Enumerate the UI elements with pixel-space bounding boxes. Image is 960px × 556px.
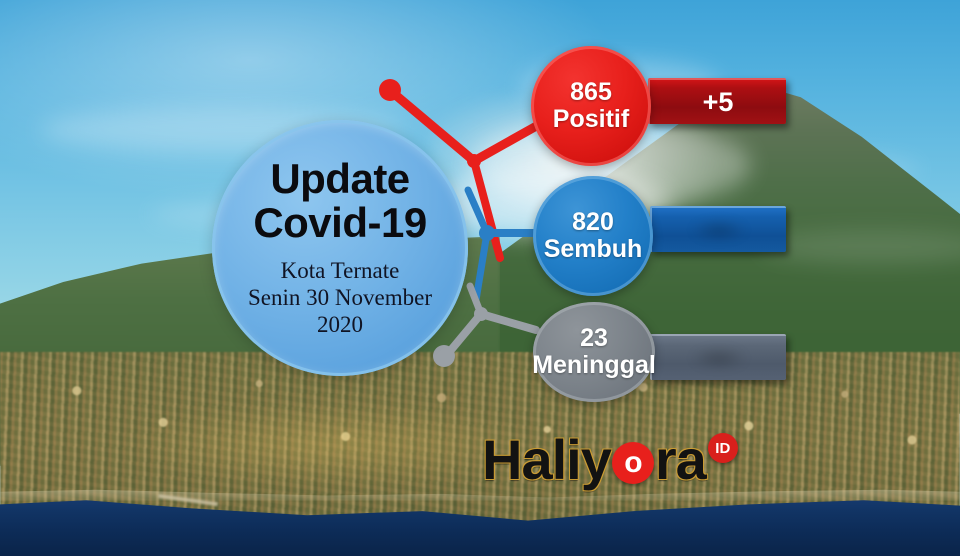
report-date: Senin 30 November 2020: [228, 284, 452, 339]
stat-bubble-sembuh: 820 Sembuh: [533, 176, 653, 296]
connector-meninggal-joint: [474, 307, 488, 321]
connector-positif-joint: [467, 154, 481, 168]
connector-sembuh-joint: [479, 225, 495, 241]
headline-line-1: Update: [270, 157, 409, 201]
city-name: Kota Ternate: [281, 257, 400, 284]
positif-delta-bar: +5: [648, 78, 786, 124]
positif-count: 865: [570, 79, 612, 106]
sembuh-delta-value-obscured: [691, 219, 747, 241]
meninggal-count: 23: [580, 325, 608, 352]
logo-o-circle-icon: o: [612, 442, 654, 484]
connector-lines: [0, 0, 960, 556]
meninggal-delta-bar: [650, 334, 786, 380]
haliyora-logo: Haliy o ra ID: [482, 432, 738, 488]
connector-meninggal-endpoint: [433, 345, 455, 367]
positif-label: Positif: [553, 106, 629, 133]
headline-line-2: Covid-19: [253, 201, 426, 245]
connector-sembuh: [468, 190, 543, 300]
sembuh-count: 820: [572, 209, 614, 236]
sembuh-delta-bar: [650, 206, 786, 252]
connector-meninggal: [446, 286, 536, 356]
logo-id-badge: ID: [708, 433, 738, 463]
covid-update-poster: Update Covid-19 Kota Ternate Senin 30 No…: [0, 0, 960, 556]
main-headline-circle: Update Covid-19 Kota Ternate Senin 30 No…: [212, 120, 468, 376]
stat-bubble-positif: 865 Positif: [531, 46, 651, 166]
connector-positif-endpoint: [379, 79, 401, 101]
sembuh-label: Sembuh: [544, 236, 643, 263]
meninggal-label: Meninggal: [532, 352, 656, 379]
logo-text-part-1: Haliy: [482, 432, 611, 488]
logo-text-part-2: ra: [655, 432, 706, 488]
meninggal-delta-value-obscured: [691, 347, 747, 369]
stat-bubble-meninggal: 23 Meninggal: [533, 302, 655, 402]
logo-wordmark: Haliy o ra: [482, 432, 706, 488]
positif-delta-value: +5: [703, 87, 734, 118]
